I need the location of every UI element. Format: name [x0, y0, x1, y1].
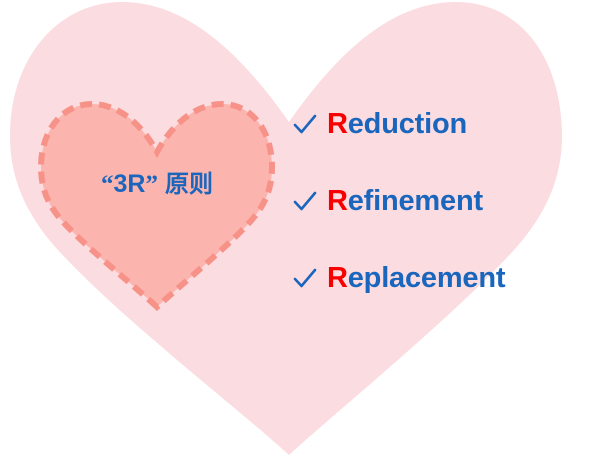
remaining-letters: eduction: [348, 108, 467, 140]
leading-letter: R: [327, 108, 348, 140]
close-quote: ”: [146, 171, 159, 198]
remaining-letters: eplacement: [348, 262, 506, 294]
list-item-label: Refinement: [327, 187, 483, 216]
list-item[interactable]: Refinement: [292, 181, 572, 221]
list-item[interactable]: Replacement: [292, 258, 572, 298]
open-quote: “: [101, 171, 114, 198]
check-icon: [292, 266, 318, 292]
label-code: 3R: [114, 170, 146, 198]
inner-heart-label: “3R” 原则: [41, 172, 273, 197]
list-item-label: Reduction: [327, 110, 467, 139]
label-chinese: 原则: [165, 170, 213, 198]
three-r-list: Reduction Refinement Replacement: [292, 104, 572, 298]
remaining-letters: efinement: [348, 185, 483, 217]
leading-letter: R: [327, 185, 348, 217]
check-icon: [292, 189, 318, 215]
leading-letter: R: [327, 262, 348, 294]
list-item-label: Replacement: [327, 264, 505, 293]
check-icon: [292, 112, 318, 138]
infographic-canvas: “3R” 原则 Reduction Refinement: [0, 0, 600, 463]
list-item[interactable]: Reduction: [292, 104, 572, 144]
